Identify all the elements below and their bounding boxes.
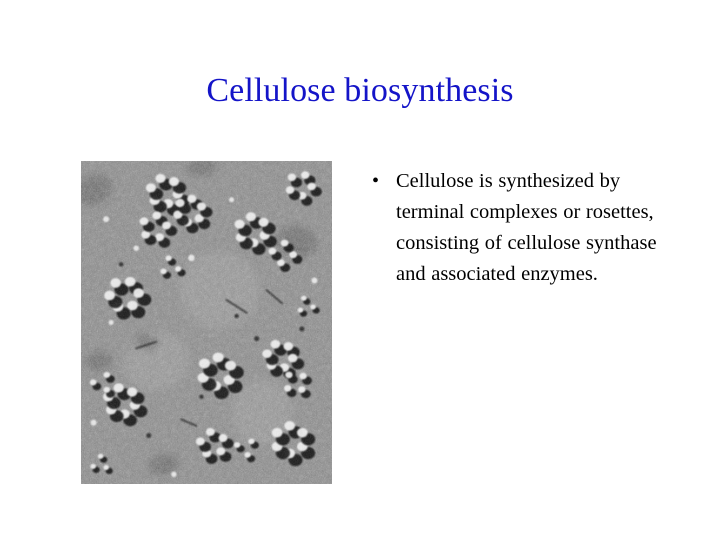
list-item: • Cellulose is synthesized by terminal c… [368,166,668,290]
body-text-block: • Cellulose is synthesized by terminal c… [368,166,668,290]
micrograph-image [81,161,332,484]
bullet-text: Cellulose is synthesized by terminal com… [396,166,668,290]
slide-title: Cellulose biosynthesis [0,72,720,110]
bullet-icon: • [372,166,379,197]
micrograph-figure [81,161,332,484]
presentation-slide: Cellulose biosynthesis [0,0,720,540]
